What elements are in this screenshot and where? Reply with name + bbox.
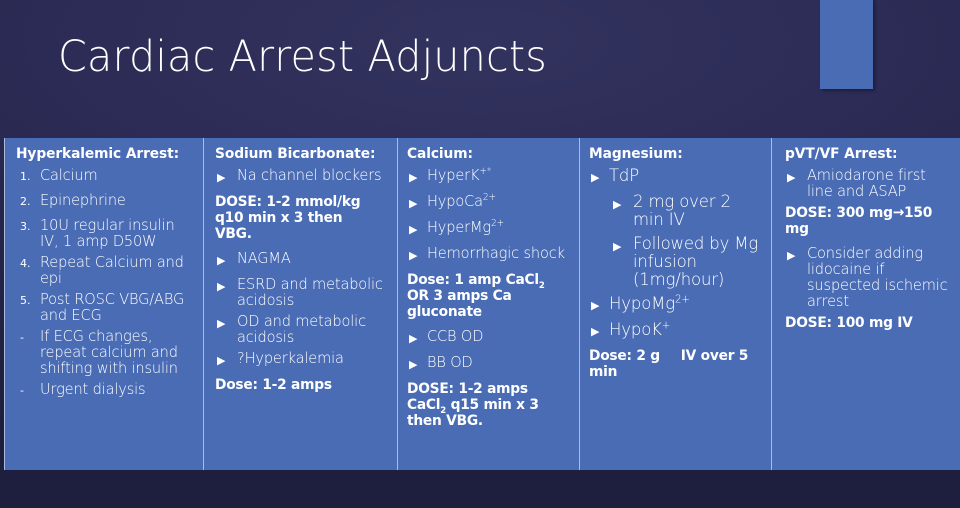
list-item-label: Hemorrhagic shock <box>427 245 565 261</box>
column-header: Hyperkalemic Arrest: <box>16 146 187 162</box>
list-item: ▶ BB OD <box>405 354 572 375</box>
column-header: pVT/VF Arrest: <box>785 146 945 162</box>
list-item: - Urgent dialysis <box>12 381 196 401</box>
list-item-label: HyperMg2+ <box>427 219 504 235</box>
list-item: ▶ Consider adding lidocaine if suspected… <box>779 245 953 309</box>
list-item-label: TdP <box>609 167 639 185</box>
list-item-label: HypoCa2+ <box>427 193 496 209</box>
column-magnesium: Magnesium: ▶ TdP ▶ 2 mg over 2 min IV ▶ … <box>580 138 772 470</box>
list-item: ▶ CCB OD <box>405 328 572 349</box>
list-item-label: Followed by Mg infusion (1mg/hour) <box>633 235 760 290</box>
list-item-label: HypoMg2+ <box>609 295 690 313</box>
triangle-bullet-icon: ▶ <box>405 167 427 188</box>
list-item-label: 2 mg over 2 min IV <box>633 193 760 230</box>
triangle-bullet-icon: ▶ <box>211 350 237 371</box>
list-item-label: HypoK+ <box>609 321 670 339</box>
decorative-rectangle <box>820 0 873 89</box>
triangle-bullet-icon: ▶ <box>587 295 609 316</box>
list-item: - If ECG changes, repeat calcium and shi… <box>12 328 196 376</box>
triangle-bullet-icon: ▶ <box>405 193 427 214</box>
dose-note: Dose: 2 gIV over 5 min <box>589 348 755 380</box>
list-item: ▶ ?Hyperkalemia <box>211 350 390 371</box>
list-item-nested: ▶ Followed by Mg infusion (1mg/hour) <box>613 235 764 290</box>
triangle-bullet-icon: ▶ <box>779 245 807 266</box>
dose-note: DOSE: 300 mg→150 mg <box>785 205 945 237</box>
list-item-label: If ECG changes, repeat calcium and shift… <box>40 328 191 376</box>
list-marker: 1. <box>12 167 40 187</box>
list-item-label: ESRD and metabolic acidosis <box>237 276 385 308</box>
list-item: 2. Epinephrine <box>12 192 196 212</box>
list-marker: 4. <box>12 254 40 274</box>
list-item: ▶ NAGMA <box>211 250 390 271</box>
list-item-label: OD and metabolic acidosis <box>237 313 385 345</box>
list-item-label: NAGMA <box>237 250 291 266</box>
list-item: 4. Repeat Calcium and epi <box>12 254 196 286</box>
list-item-label: Epinephrine <box>40 192 126 208</box>
list-item: ▶ HypoMg2+ <box>587 295 764 316</box>
list-item-label: BB OD <box>427 354 473 370</box>
dose-note: Dose: 1-2 amps <box>215 377 381 393</box>
triangle-bullet-icon: ▶ <box>405 354 427 375</box>
column-hyperkalemic-arrest: Hyperkalemic Arrest: 1. Calcium 2. Epine… <box>4 138 204 470</box>
list-item: ▶ HyperMg2+ <box>405 219 572 240</box>
triangle-bullet-icon: ▶ <box>613 235 633 258</box>
list-item-label: Calcium <box>40 167 98 183</box>
list-item-nested: ▶ 2 mg over 2 min IV <box>613 193 764 230</box>
triangle-bullet-icon: ▶ <box>779 167 807 188</box>
list-item: ▶ ESRD and metabolic acidosis <box>211 276 390 308</box>
list-marker: 3. <box>12 217 40 237</box>
dose-note: DOSE: 1-2 mmol/kg q10 min x 3 then VBG. <box>215 194 381 243</box>
triangle-bullet-icon: ▶ <box>613 193 633 216</box>
triangle-bullet-icon: ▶ <box>405 328 427 349</box>
column-calcium: Calcium: ▶ HyperK+* ▶ HypoCa2+ ▶ HyperMg… <box>398 138 580 470</box>
list-item-label: CCB OD <box>427 328 483 344</box>
list-item: 3. 10U regular insulin IV, 1 amp D50W <box>12 217 196 249</box>
list-item: ▶ HyperK+* <box>405 167 572 188</box>
slide: Cardiac Arrest Adjuncts Hyperkalemic Arr… <box>0 0 960 508</box>
list-item-label: ?Hyperkalemia <box>237 350 344 366</box>
dose-note: DOSE: 1-2 amps CaCl2 q15 min x 3 then VB… <box>407 381 564 430</box>
dash-bullet-icon: - <box>12 328 40 348</box>
list-item: ▶ HypoK+ <box>587 321 764 342</box>
column-header: Sodium Bicarbonate: <box>215 146 381 162</box>
list-item-label: Urgent dialysis <box>40 381 145 397</box>
dose-note: Dose: 1 amp CaCl2 OR 3 amps Ca gluconate <box>407 272 564 321</box>
triangle-bullet-icon: ▶ <box>405 219 427 240</box>
list-item: ▶ HypoCa2+ <box>405 193 572 214</box>
list-item: 5. Post ROSC VBG/ABG and ECG <box>12 291 196 323</box>
triangle-bullet-icon: ▶ <box>587 321 609 342</box>
list-item: ▶ TdP <box>587 167 764 188</box>
list-item: 1. Calcium <box>12 167 196 187</box>
list-item-label: Na channel blockers <box>237 167 381 183</box>
list-item-label: Post ROSC VBG/ABG and ECG <box>40 291 191 323</box>
column-pvt-vf-arrest: pVT/VF Arrest: ▶ Amiodarone first line a… <box>772 138 960 470</box>
triangle-bullet-icon: ▶ <box>211 167 237 188</box>
list-marker: 2. <box>12 192 40 212</box>
adjuncts-table: Hyperkalemic Arrest: 1. Calcium 2. Epine… <box>4 138 960 470</box>
triangle-bullet-icon: ▶ <box>211 313 237 334</box>
triangle-bullet-icon: ▶ <box>405 245 427 266</box>
column-sodium-bicarbonate: Sodium Bicarbonate: ▶ Na channel blocker… <box>204 138 398 470</box>
list-item-label: Consider adding lidocaine if suspected i… <box>807 245 949 309</box>
triangle-bullet-icon: ▶ <box>211 250 237 271</box>
list-item: ▶ Na channel blockers <box>211 167 390 188</box>
triangle-bullet-icon: ▶ <box>211 276 237 297</box>
triangle-bullet-icon: ▶ <box>587 167 609 188</box>
list-item-label: 10U regular insulin IV, 1 amp D50W <box>40 217 191 249</box>
list-item-label: HyperK+* <box>427 167 491 183</box>
dose-note: DOSE: 100 mg IV <box>785 315 945 331</box>
list-marker: 5. <box>12 291 40 311</box>
list-item: ▶ Hemorrhagic shock <box>405 245 572 266</box>
page-title: Cardiac Arrest Adjuncts <box>58 36 547 79</box>
list-item-label: Repeat Calcium and epi <box>40 254 191 286</box>
column-header: Calcium: <box>407 146 564 162</box>
dash-bullet-icon: - <box>12 381 40 401</box>
list-item: ▶ OD and metabolic acidosis <box>211 313 390 345</box>
list-item: ▶ Amiodarone first line and ASAP <box>779 167 953 199</box>
list-item-label: Amiodarone first line and ASAP <box>807 167 949 199</box>
column-header: Magnesium: <box>589 146 755 162</box>
